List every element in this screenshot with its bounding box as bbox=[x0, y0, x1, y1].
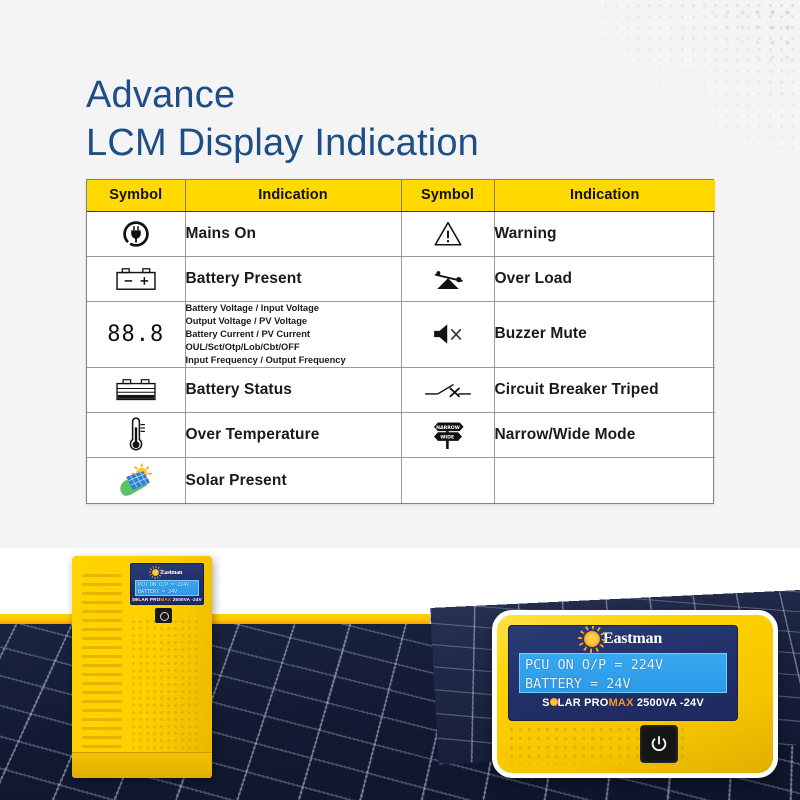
symbol-cell-narrow-wide: NARROW WIDE bbox=[401, 413, 494, 458]
thermometer-icon bbox=[125, 416, 147, 454]
tower-lcd-screen: PCU ON O/P = 224V BATTERY = 24V bbox=[135, 580, 199, 596]
symbol-cell-buzzer-mute bbox=[401, 301, 494, 368]
table-row: Battery Status Circuit Breaker Triped bbox=[87, 368, 715, 413]
symbol-cell-over-temperature bbox=[87, 413, 185, 458]
table-row: 88.8 Battery Voltage / Input Voltage Out… bbox=[87, 301, 715, 368]
tower-inverter-device: Eastman PCU ON O/P = 224V BATTERY = 24V … bbox=[72, 556, 212, 778]
indication-label-solar-present: Solar Present bbox=[185, 458, 401, 503]
symbol-cell-mains-on bbox=[87, 211, 185, 256]
symbol-cell-over-load bbox=[401, 256, 494, 301]
tower-dot-texture bbox=[130, 618, 202, 760]
symbol-cell-warning bbox=[401, 211, 494, 256]
indication-label-over-temperature: Over Temperature bbox=[185, 413, 401, 458]
device-power-button[interactable] bbox=[640, 725, 678, 763]
indication-table: Symbol Indication Symbol Indication bbox=[87, 180, 715, 503]
symbol-cell-seven-segment: 88.8 bbox=[87, 301, 185, 368]
signpost-icon: NARROW WIDE bbox=[427, 417, 469, 453]
measurement-line-5: Input Frequency / Output Frequency bbox=[186, 354, 401, 367]
measurement-line-4: OUL/Sct/Otp/Lob/Cbt/OFF bbox=[186, 341, 401, 354]
battery-terminals-icon bbox=[114, 265, 158, 293]
column-header-symbol-left: Symbol bbox=[87, 180, 185, 211]
page-title-line1: Advance bbox=[86, 72, 479, 120]
indication-label-warning: Warning bbox=[494, 211, 715, 256]
open-circuit-breaker-icon bbox=[422, 378, 474, 402]
poster-canvas: Advance LCM Display Indication Symbol In… bbox=[0, 0, 800, 800]
tower-vent-fins bbox=[82, 574, 122, 760]
speaker-mute-icon bbox=[428, 320, 468, 348]
indication-label-narrow-wide: Narrow/Wide Mode bbox=[494, 413, 715, 458]
device-lcd-line-1: PCU ON O/P = 224V bbox=[525, 656, 721, 675]
indication-label-over-load: Over Load bbox=[494, 256, 715, 301]
tower-lcd-line-1: PCU ON O/P = 224V bbox=[138, 582, 196, 589]
sun-logo-icon bbox=[152, 569, 159, 576]
indication-label-measurements: Battery Voltage / Input Voltage Output V… bbox=[185, 301, 401, 368]
sun-logo-icon bbox=[584, 631, 600, 647]
device-brand-name: Eastman bbox=[603, 630, 662, 648]
page-title: Advance LCM Display Indication bbox=[86, 72, 479, 168]
indication-label-battery-status: Battery Status bbox=[185, 368, 401, 413]
warning-triangle-icon bbox=[433, 220, 463, 247]
product-photo-band: Eastman PCU ON O/P = 224V BATTERY = 24V … bbox=[0, 548, 800, 800]
battery-status-icon bbox=[114, 377, 158, 403]
device-lcd-line-2: BATTERY = 24V bbox=[525, 675, 721, 694]
table-row: Over Temperature NARROW WIDE Narrow/Wide… bbox=[87, 413, 715, 458]
seven-segment-display-icon: 88.8 bbox=[107, 322, 164, 347]
device-lcd-screen: PCU ON O/P = 224V BATTERY = 24V bbox=[519, 653, 727, 693]
symbol-cell-solar-present bbox=[87, 458, 185, 503]
tower-model-line: SLAR PROMAX 2500VA -24V bbox=[131, 597, 203, 602]
page-title-line2: LCM Display Indication bbox=[86, 120, 479, 168]
plug-in-circle-icon bbox=[121, 219, 151, 249]
symbol-cell-empty bbox=[401, 458, 494, 503]
table-row: Battery Present Over Load bbox=[87, 256, 715, 301]
tower-brand-name: Eastman bbox=[161, 570, 182, 576]
tower-model-max: MAX bbox=[160, 597, 171, 602]
table-row: Solar Present bbox=[87, 458, 715, 503]
device-model-suffix: 2500VA -24V bbox=[634, 697, 704, 709]
device-model-line: SLAR PROMAX 2500VA -24V bbox=[509, 697, 737, 709]
tower-model-suffix: 2500VA -24V bbox=[171, 597, 202, 602]
indication-label-mains-on: Mains On bbox=[185, 211, 401, 256]
table-row: Mains On Warning bbox=[87, 211, 715, 256]
measurement-line-2: Output Voltage / PV Voltage bbox=[186, 315, 401, 328]
indication-label-buzzer-mute: Buzzer Mute bbox=[494, 301, 715, 368]
indication-table-wrapper: Symbol Indication Symbol Indication bbox=[86, 179, 714, 504]
overload-seesaw-icon bbox=[428, 265, 468, 293]
tower-model-mid: LAR PRO bbox=[138, 597, 160, 602]
indication-label-battery-present: Battery Present bbox=[185, 256, 401, 301]
symbol-cell-battery-present bbox=[87, 256, 185, 301]
column-header-indication-right: Indication bbox=[494, 180, 715, 211]
tower-base-panel bbox=[72, 752, 212, 778]
device-model-mid: LAR PRO bbox=[558, 697, 609, 709]
device-brand-logo: Eastman bbox=[509, 626, 737, 652]
indication-label-circuit-breaker: Circuit Breaker Triped bbox=[494, 368, 715, 413]
device-model-prefix: S bbox=[542, 697, 550, 709]
solar-panel-sun-icon bbox=[116, 463, 156, 499]
measurement-line-3: Battery Current / PV Current bbox=[186, 328, 401, 341]
column-header-symbol-right: Symbol bbox=[401, 180, 494, 211]
table-header-row: Symbol Indication Symbol Indication bbox=[87, 180, 715, 211]
tower-power-button[interactable] bbox=[155, 608, 172, 623]
tower-lcd-line-2: BATTERY = 24V bbox=[138, 589, 196, 596]
solar-promax-inverter-device: Eastman PCU ON O/P = 224V BATTERY = 24V … bbox=[492, 610, 778, 778]
tower-display-panel: Eastman PCU ON O/P = 224V BATTERY = 24V … bbox=[130, 563, 204, 605]
symbol-cell-battery-status bbox=[87, 368, 185, 413]
column-header-indication-left: Indication bbox=[185, 180, 401, 211]
power-button-icon bbox=[649, 734, 669, 754]
device-model-max: MAX bbox=[609, 697, 634, 709]
signpost-narrow-text: NARROW bbox=[436, 426, 460, 432]
device-display-panel: Eastman PCU ON O/P = 224V BATTERY = 24V … bbox=[508, 625, 738, 721]
signpost-wide-text: WIDE bbox=[440, 435, 454, 441]
indication-label-empty bbox=[494, 458, 715, 503]
measurement-line-1: Battery Voltage / Input Voltage bbox=[186, 302, 401, 315]
tower-brand-logo: Eastman bbox=[131, 566, 203, 579]
symbol-cell-circuit-breaker bbox=[401, 368, 494, 413]
